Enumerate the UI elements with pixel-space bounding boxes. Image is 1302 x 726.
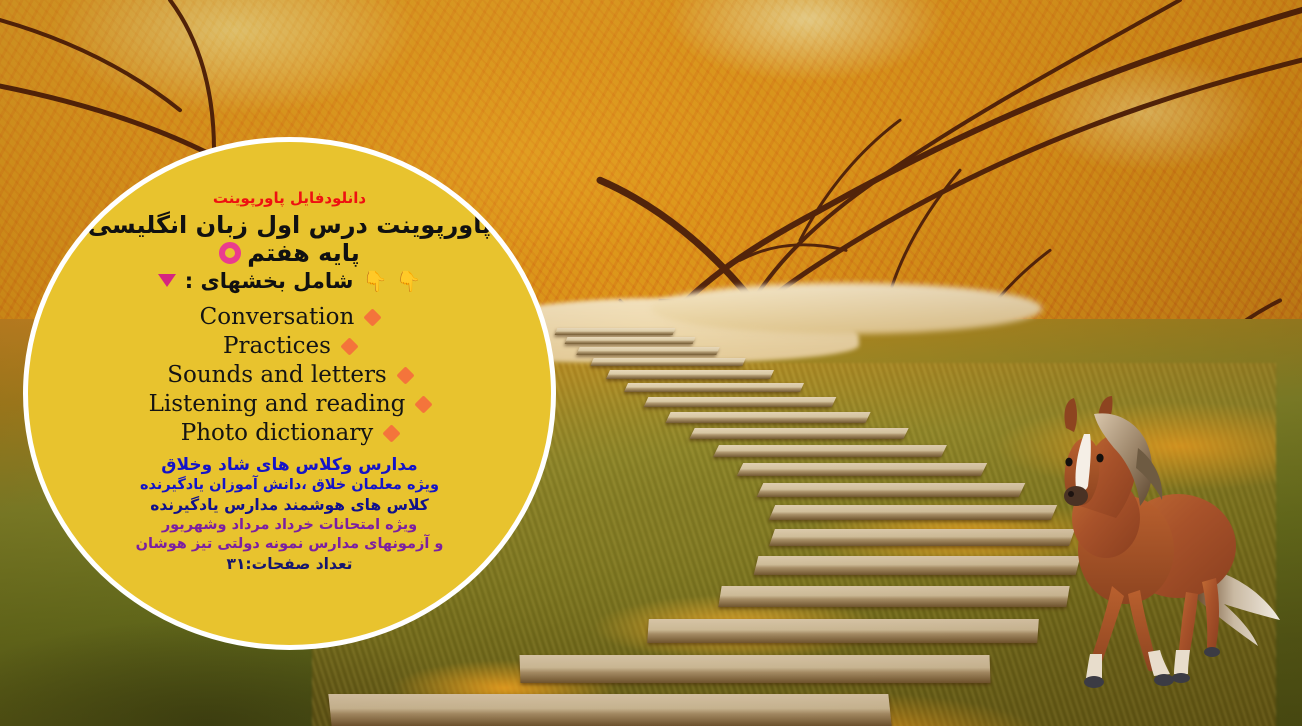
- stair-step: [718, 586, 1069, 607]
- pointing-down-hand-icon: 👇: [396, 271, 421, 291]
- horse-sock-hind-left: [1174, 650, 1190, 674]
- persian-note: و آزمونهای مدارس نمونه دولتی تیز هوشان: [136, 535, 444, 554]
- diamond-bullet-icon: [340, 337, 358, 355]
- stair-step: [713, 445, 947, 457]
- horse-hoof-front-left: [1084, 676, 1104, 688]
- horse-eye-right: [1096, 454, 1103, 463]
- horse-nostril: [1068, 491, 1074, 497]
- section-label: Practices: [223, 333, 331, 359]
- horse-sock-front-right: [1148, 650, 1170, 676]
- download-link-text[interactable]: دانلودفایل پاورپوینت: [213, 190, 366, 207]
- diamond-bullet-icon: [415, 395, 433, 413]
- ring-icon: [219, 242, 241, 264]
- horse-hoof-hind-right: [1204, 647, 1220, 657]
- list-item: Practices: [28, 332, 551, 361]
- panel-title-line1: پاورپوینت درس اول زبان انگلیسی: [88, 211, 492, 240]
- list-item: Photo dictionary: [28, 419, 551, 448]
- horse-muzzle: [1064, 486, 1088, 506]
- triangle-down-icon: [158, 274, 176, 287]
- panel-title-line2-row: پایه هفتم: [219, 239, 359, 268]
- running-horse: [1028, 388, 1294, 688]
- section-label: Photo dictionary: [181, 420, 373, 446]
- persian-notes-list: مدارس وکلاس های شاد وخلاق ویژه معلمان خل…: [28, 454, 551, 575]
- persian-note: ویژه امتحانات خرداد مرداد وشهریور: [162, 516, 417, 535]
- stair-step: [644, 397, 837, 407]
- diamond-bullet-icon: [364, 308, 382, 326]
- list-item: Conversation: [28, 303, 551, 332]
- stair-step: [520, 655, 991, 683]
- poster-canvas: دانلودفایل پاورپوینت پاورپوینت درس اول ز…: [0, 0, 1302, 726]
- panel-title-line2: پایه هفتم: [247, 239, 359, 268]
- horse-sock-front-left: [1086, 654, 1102, 678]
- stair-step: [590, 358, 745, 366]
- section-label: Conversation: [200, 304, 355, 330]
- pointing-down-hand-icon: 👇: [362, 271, 387, 291]
- stair-step: [606, 370, 774, 379]
- stair-step: [689, 428, 908, 439]
- section-label: Listening and reading: [149, 391, 406, 417]
- stair-step: [757, 483, 1026, 497]
- sections-label-row: 👇 👇 شامل بخشهای :: [158, 269, 422, 293]
- stair-step: [576, 347, 719, 355]
- horse-ear-left: [1064, 398, 1077, 432]
- horse-hoof-hind-left: [1172, 673, 1190, 683]
- diamond-bullet-icon: [396, 366, 414, 384]
- stair-step: [565, 337, 696, 344]
- english-sections-list: Conversation Practices Sounds and letter…: [28, 303, 551, 448]
- list-item: Listening and reading: [28, 390, 551, 419]
- page-count-note: تعداد صفحات:۳۱: [227, 554, 353, 574]
- persian-note: کلاس های هوشمند مدارس یادگیرنده: [150, 495, 429, 515]
- stair-step: [769, 505, 1057, 520]
- horse-hind-leg-right: [1202, 578, 1219, 652]
- horse-hoof-front-right: [1154, 674, 1174, 686]
- persian-note: ویژه معلمان خلاق ،دانش آموزان یادگیرنده: [140, 476, 439, 495]
- list-item: Sounds and letters: [28, 361, 551, 390]
- stair-step: [665, 412, 870, 423]
- stair-step: [328, 694, 891, 726]
- diamond-bullet-icon: [383, 424, 401, 442]
- horse-eye-left: [1065, 458, 1072, 467]
- section-label: Sounds and letters: [167, 362, 387, 388]
- sections-label: شامل بخشهای :: [185, 269, 354, 293]
- stair-step: [647, 619, 1039, 643]
- stair-step: [624, 383, 804, 392]
- yellow-circle-panel: دانلودفایل پاورپوینت پاورپوینت درس اول ز…: [23, 137, 556, 650]
- stair-step: [555, 328, 676, 335]
- persian-note: مدارس وکلاس های شاد وخلاق: [161, 454, 417, 476]
- stair-step: [737, 463, 987, 476]
